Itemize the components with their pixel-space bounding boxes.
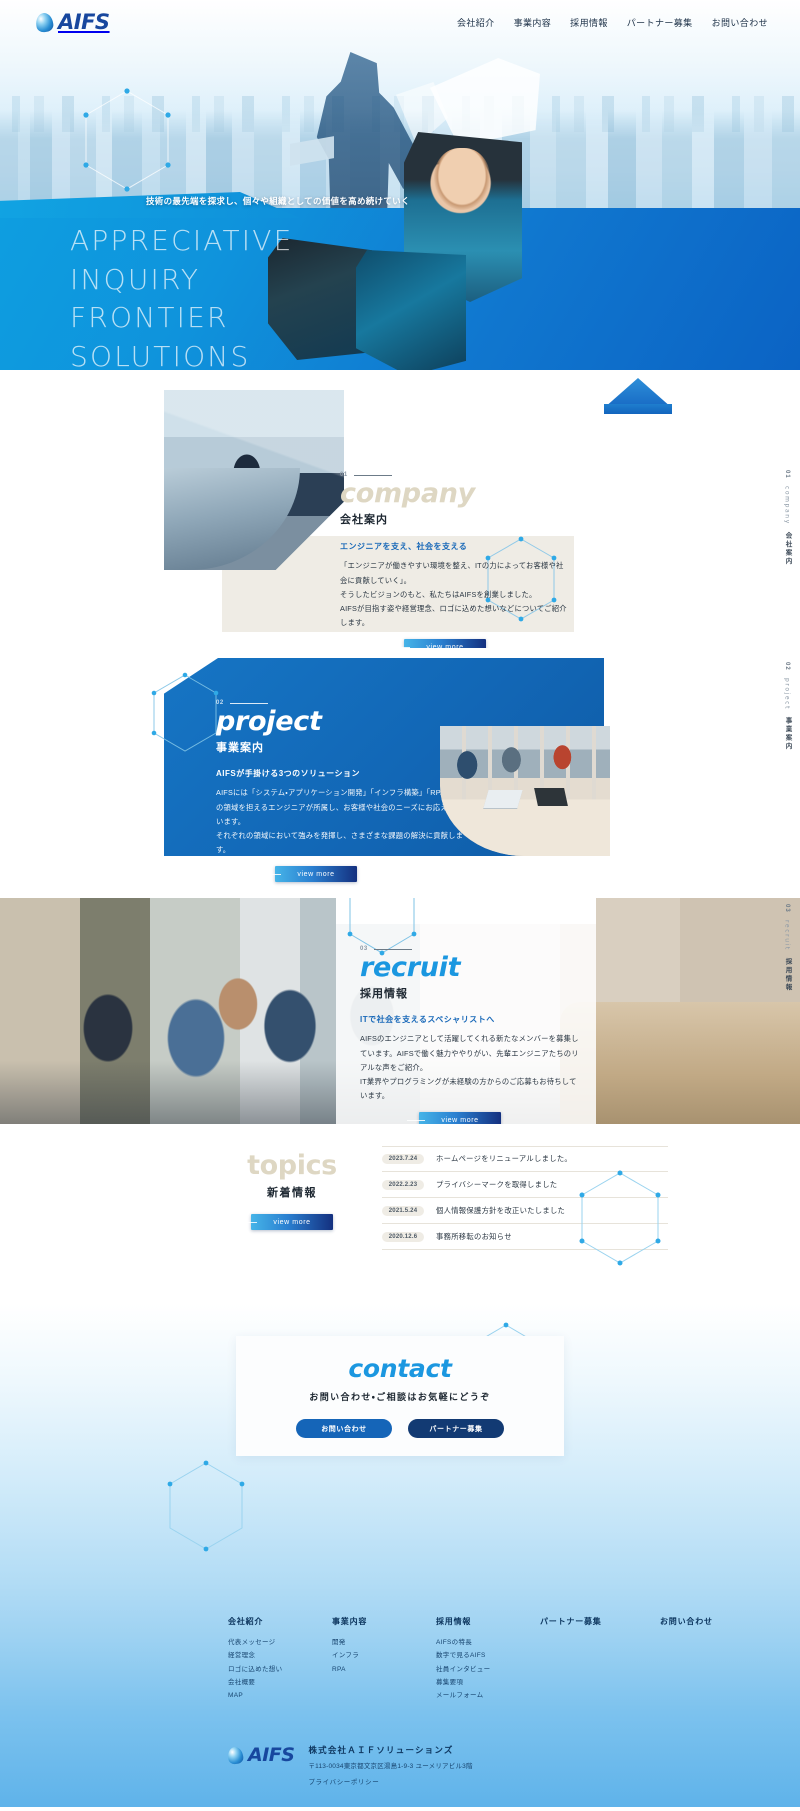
footer-brand-block: AIFS 株式会社ＡＩＦソリューションズ 〒113-0034東京都文京区湯島1-… bbox=[228, 1744, 473, 1789]
recruit-side-number: 03 bbox=[784, 904, 790, 913]
topic-title: 個人情報保護方針を改正いたしました bbox=[436, 1206, 565, 1216]
footer-column-title[interactable]: お問い合わせ bbox=[660, 1616, 764, 1627]
footer-link[interactable]: MAP bbox=[228, 1689, 332, 1702]
hero-keyword-4: SOLUTIONS bbox=[70, 338, 293, 370]
company-side-en: company bbox=[784, 486, 791, 525]
footer-link[interactable]: 募集要項 bbox=[436, 1676, 540, 1689]
topic-date: 2023.7.24 bbox=[382, 1154, 424, 1164]
topics-list-item[interactable]: 2023.7.24 ホームページをリニューアルしました。 bbox=[382, 1146, 668, 1172]
project-laptop-icon-2 bbox=[534, 788, 568, 806]
water-drop-logo-icon bbox=[35, 11, 54, 32]
footer-column-title[interactable]: 事業内容 bbox=[332, 1616, 436, 1627]
company-roof-shape-bottom bbox=[604, 404, 672, 414]
hero-keywords: APPRECIATIVE INQUIRY FRONTIER SOLUTIONS bbox=[70, 222, 293, 370]
nav-item-partner[interactable]: パートナー募集 bbox=[627, 16, 693, 29]
footer-company-name: 株式会社ＡＩＦソリューションズ bbox=[308, 1744, 472, 1756]
footer-column-recruit: 採用情報 AIFSの特長 数字で見るAIFS 社員インタビュー 募集要項 メール… bbox=[436, 1616, 540, 1703]
footer-column-company: 会社紹介 代表メッセージ 経営理念 ロゴに込めた想い 会社概要 MAP bbox=[228, 1616, 332, 1703]
contact-section: contact お問い合わせ・ご相談はお気軽にどうぞ お問い合わせ パートナー募… bbox=[0, 1304, 800, 1582]
recruit-section: 03 recruit 採用情報 ITで社会を支えるスペシャリストへ AIFSのエ… bbox=[0, 898, 800, 1124]
project-button-row: view more bbox=[216, 866, 416, 882]
topics-view-more-button[interactable]: view more bbox=[251, 1214, 333, 1230]
recruit-heading-jp: 採用情報 bbox=[360, 985, 582, 1001]
recruit-body-text: AIFSのエンジニアとして活躍してくれる新たなメンバーを募集しています。AIFS… bbox=[360, 1032, 582, 1103]
recruit-content: 03 recruit 採用情報 ITで社会を支えるスペシャリストへ AIFSのエ… bbox=[360, 946, 582, 1124]
company-content: 01 company 会社案内 エンジニアを支え、社会を支える 「エンジニアが働… bbox=[340, 472, 570, 655]
company-body-text: 「エンジニアが働きやすい環境を整え、ITの力によってお客様や社会に貢献していく」… bbox=[340, 559, 570, 630]
footer-column-business: 事業内容 開発 インフラ RPA bbox=[332, 1616, 436, 1703]
project-subheading: AIFSが手掛ける3つのソリューション bbox=[216, 768, 466, 779]
footer-logo[interactable]: AIFS bbox=[228, 1744, 294, 1766]
topic-title: ホームページをリニューアルしました。 bbox=[436, 1154, 572, 1164]
project-photo bbox=[440, 726, 610, 856]
footer-link[interactable]: 数字で見るAIFS bbox=[436, 1649, 540, 1662]
hexagon-decoration-icon bbox=[166, 1460, 246, 1552]
company-heading-jp: 会社案内 bbox=[340, 511, 570, 527]
site-header: AIFS 会社紹介 事業内容 採用情報 パートナー募集 お問い合わせ bbox=[0, 0, 800, 44]
recruit-side-jp: 採用情報 bbox=[782, 958, 792, 992]
footer-company-info: 株式会社ＡＩＦソリューションズ 〒113-0034東京都文京区湯島1-9-3 ユ… bbox=[308, 1744, 472, 1789]
project-section: 02 project 事業案内 AIFSが手掛ける3つのソリューション AIFS… bbox=[0, 648, 800, 898]
nav-item-company[interactable]: 会社紹介 bbox=[457, 16, 495, 29]
project-rule bbox=[230, 703, 268, 704]
company-side-tag: 01 company 会社案内 bbox=[782, 470, 792, 566]
footer-column-contact: お問い合わせ bbox=[660, 1616, 764, 1703]
topic-date: 2021.5.24 bbox=[382, 1206, 424, 1216]
topics-section: topics 新着情報 view more 2023.7.24 ホームページをリ… bbox=[0, 1124, 800, 1304]
footer-column-title[interactable]: 採用情報 bbox=[436, 1616, 540, 1627]
company-subheading: エンジニアを支え、社会を支える bbox=[340, 541, 570, 552]
site-footer: 会社紹介 代表メッセージ 経営理念 ロゴに込めた想い 会社概要 MAP 事業内容… bbox=[0, 1582, 800, 1807]
project-side-jp: 事業案内 bbox=[782, 717, 792, 751]
hero-keyword-2: INQUIRY bbox=[70, 261, 293, 300]
company-side-jp: 会社案内 bbox=[782, 532, 792, 566]
footer-link[interactable]: RPA bbox=[332, 1663, 436, 1676]
topics-list-item[interactable]: 2020.12.6 事務所移転のお知らせ bbox=[382, 1224, 668, 1250]
topics-button-row: view more bbox=[232, 1214, 352, 1230]
contact-heading-en: contact bbox=[348, 1354, 451, 1383]
footer-column-title[interactable]: パートナー募集 bbox=[540, 1616, 660, 1627]
company-rule bbox=[354, 475, 392, 476]
company-section: 01 company 会社案内 エンジニアを支え、社会を支える 「エンジニアが働… bbox=[0, 370, 800, 648]
hero-section: 技術の最先端を探求し、個々や組織としての価値を高め続けていく APPRECIAT… bbox=[0, 0, 800, 370]
topic-title: プライバシーマークを取得しました bbox=[436, 1180, 557, 1190]
footer-link[interactable]: 開発 bbox=[332, 1636, 436, 1649]
nav-item-recruit[interactable]: 採用情報 bbox=[570, 16, 608, 29]
hero-lead-text: 技術の最先端を探求し、個々や組織としての価値を高め続けていく bbox=[146, 194, 476, 209]
footer-column-title[interactable]: 会社紹介 bbox=[228, 1616, 332, 1627]
company-heading-en: company bbox=[340, 480, 570, 508]
project-heading-en: project bbox=[216, 708, 466, 736]
project-side-number: 02 bbox=[784, 662, 790, 671]
contact-card: contact お問い合わせ・ご相談はお気軽にどうぞ お問い合わせ パートナー募… bbox=[236, 1336, 564, 1456]
footer-link-columns: 会社紹介 代表メッセージ 経営理念 ロゴに込めた想い 会社概要 MAP 事業内容… bbox=[228, 1616, 764, 1703]
recruit-side-en: recruit bbox=[784, 920, 791, 951]
footer-link[interactable]: 経営理念 bbox=[228, 1649, 332, 1662]
topics-heading-jp: 新着情報 bbox=[232, 1184, 352, 1200]
nav-item-business[interactable]: 事業内容 bbox=[514, 16, 552, 29]
recruit-heading-en: recruit bbox=[360, 954, 582, 982]
project-heading-jp: 事業案内 bbox=[216, 739, 466, 755]
recruit-sofa-photo bbox=[560, 1002, 800, 1124]
topic-date: 2020.12.6 bbox=[382, 1232, 424, 1242]
footer-link[interactable]: 社員インタビュー bbox=[436, 1663, 540, 1676]
recruit-subheading: ITで社会を支えるスペシャリストへ bbox=[360, 1014, 582, 1025]
company-side-number: 01 bbox=[784, 470, 790, 479]
logo-text: AIFS bbox=[58, 10, 110, 34]
hero-photo-tertiary bbox=[356, 250, 466, 370]
site-logo[interactable]: AIFS bbox=[36, 10, 110, 34]
company-text-block: エンジニアを支え、社会を支える 「エンジニアが働きやすい環境を整え、ITの力によ… bbox=[340, 541, 570, 655]
footer-link[interactable]: 会社概要 bbox=[228, 1676, 332, 1689]
footer-link[interactable]: メールフォーム bbox=[436, 1689, 540, 1702]
topic-date: 2022.2.23 bbox=[382, 1180, 424, 1190]
nav-item-contact[interactable]: お問い合わせ bbox=[712, 16, 768, 29]
project-side-tag: 02 project 事業案内 bbox=[782, 662, 792, 751]
topic-title: 事務所移転のお知らせ bbox=[436, 1232, 512, 1242]
recruit-side-tag: 03 recruit 採用情報 bbox=[782, 904, 792, 992]
topics-list-item[interactable]: 2021.5.24 個人情報保護方針を改正いたしました bbox=[382, 1198, 668, 1224]
footer-address: 〒113-0034東京都文京区湯島1-9-3 ユーメリアビル3階 bbox=[308, 1760, 472, 1770]
footer-link[interactable]: 代表メッセージ bbox=[228, 1636, 332, 1649]
hero-keyword-1: APPRECIATIVE bbox=[70, 222, 293, 261]
project-content: 02 project 事業案内 AIFSが手掛ける3つのソリューション AIFS… bbox=[216, 700, 466, 882]
project-side-en: project bbox=[784, 678, 791, 710]
contact-partner-button[interactable]: パートナー募集 bbox=[408, 1419, 504, 1438]
main-navigation: 会社紹介 事業内容 採用情報 パートナー募集 お問い合わせ bbox=[457, 16, 768, 29]
footer-link[interactable]: AIFSの特長 bbox=[436, 1636, 540, 1649]
recruit-white-overlay-top bbox=[336, 898, 596, 924]
footer-logo-text: AIFS bbox=[248, 1744, 294, 1766]
recruit-view-more-button[interactable]: view more bbox=[419, 1112, 501, 1124]
footer-link[interactable]: インフラ bbox=[332, 1649, 436, 1662]
topics-list: 2023.7.24 ホームページをリニューアルしました。 2022.2.23 プ… bbox=[382, 1146, 668, 1250]
contact-inquiry-button[interactable]: お問い合わせ bbox=[296, 1419, 392, 1438]
recruit-rule bbox=[374, 949, 412, 950]
topics-heading-en: topics bbox=[232, 1152, 352, 1179]
project-body-text: AIFSには「システム・アプリケーション開発」「インフラ構築」「RPA構築」の領… bbox=[216, 786, 466, 857]
footer-privacy-policy-link[interactable]: プライバシーポリシー bbox=[308, 1776, 379, 1786]
project-laptop-icon-1 bbox=[483, 790, 522, 808]
water-drop-logo-icon bbox=[227, 1746, 244, 1765]
hero-keyword-3: FRONTIER bbox=[70, 299, 293, 338]
topics-list-item[interactable]: 2022.2.23 プライバシーマークを取得しました bbox=[382, 1172, 668, 1198]
contact-buttons: お問い合わせ パートナー募集 bbox=[296, 1419, 504, 1438]
topics-heading-block: topics 新着情報 view more bbox=[232, 1152, 352, 1230]
recruit-button-row: view more bbox=[360, 1112, 560, 1124]
footer-link[interactable]: ロゴに込めた想い bbox=[228, 1663, 332, 1676]
contact-heading-jp: お問い合わせ・ご相談はお気軽にどうぞ bbox=[309, 1390, 490, 1403]
project-view-more-button[interactable]: view more bbox=[275, 866, 357, 882]
footer-column-partner: パートナー募集 bbox=[540, 1616, 660, 1703]
